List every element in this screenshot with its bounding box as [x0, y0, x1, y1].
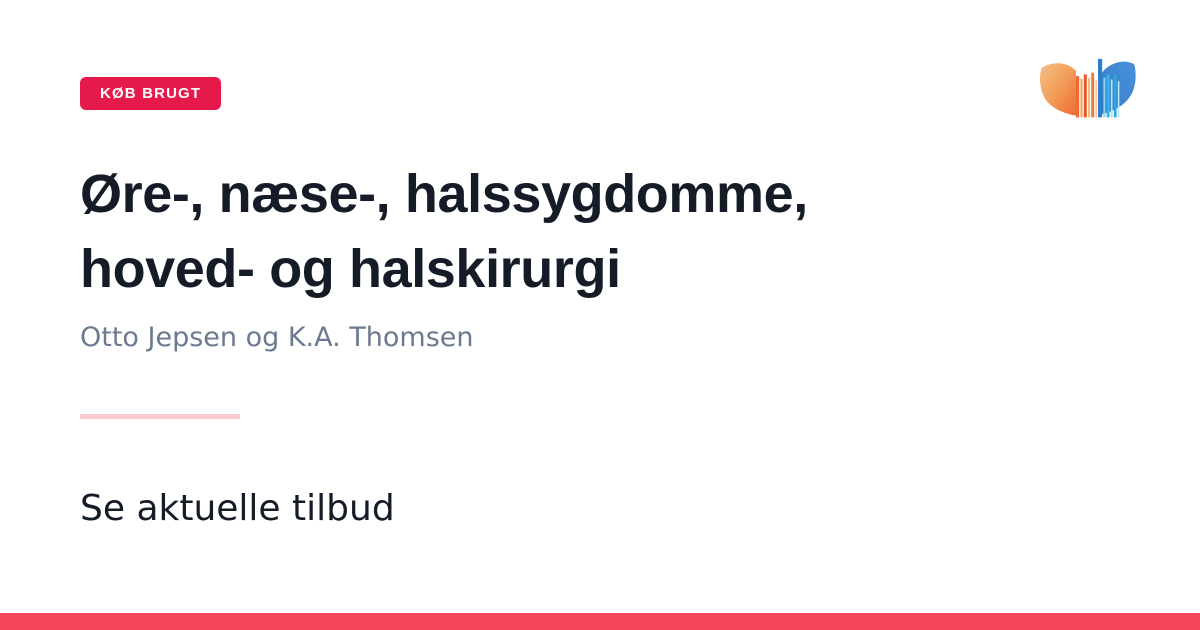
divider	[80, 414, 240, 419]
status-badge-label: KØB BRUGT	[100, 86, 201, 101]
page-title-line-1: Øre-, næse-, halssygdomme,	[80, 157, 1090, 232]
status-badge-kob-brugt[interactable]: KØB BRUGT	[80, 77, 221, 110]
bottom-accent-bar	[0, 613, 1200, 630]
page-title-line-2: hoved- og halskirurgi	[80, 232, 1090, 307]
book-authors: Otto Jepsen og K.A. Thomsen	[80, 320, 474, 356]
page-title: Øre-, næse-, halssygdomme, hoved- og hal…	[80, 157, 1090, 307]
butterfly-book-logo	[1038, 50, 1138, 155]
cta-see-current-offers[interactable]: Se aktuelle tilbud	[80, 485, 395, 533]
promo-card: KØB BRUGT	[0, 0, 1200, 630]
